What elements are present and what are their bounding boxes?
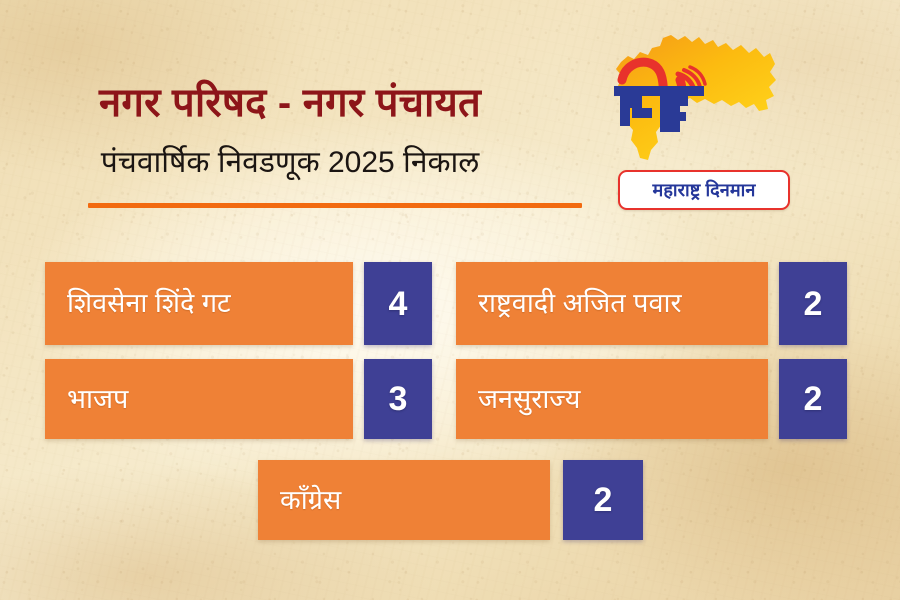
page-title: नगर परिषद - नगर पंचायत [0, 82, 580, 124]
seat-count: 3 [389, 382, 408, 416]
party-name: जनसुराज्य [456, 386, 580, 413]
seat-count-box: 3 [364, 359, 432, 439]
results-list: शिवसेना शिंदे गट 4 भाजप 3 राष्ट्रवादी अज… [0, 248, 900, 558]
result-row: राष्ट्रवादी अजित पवार 2 [456, 262, 847, 345]
party-name: भाजप [45, 386, 128, 413]
brand-name-box: महाराष्ट्र दिनमान [618, 170, 790, 210]
seat-count: 2 [804, 382, 823, 416]
seat-count: 2 [804, 287, 823, 321]
di-letter-mark-icon [608, 46, 718, 138]
heading-divider [88, 203, 582, 208]
brand-logo: महाराष्ट्र दिनमान [598, 18, 888, 218]
seat-count: 4 [389, 287, 408, 321]
seat-count: 2 [594, 483, 613, 517]
seat-count-box: 2 [563, 460, 643, 540]
seat-count-box: 4 [364, 262, 432, 345]
party-bar: काँग्रेस [258, 460, 550, 540]
party-bar: राष्ट्रवादी अजित पवार [456, 262, 768, 345]
result-row: काँग्रेस 2 [258, 460, 643, 540]
party-name: राष्ट्रवादी अजित पवार [456, 290, 682, 317]
result-row: शिवसेना शिंदे गट 4 [45, 262, 432, 345]
seat-count-box: 2 [779, 359, 847, 439]
result-row: भाजप 3 [45, 359, 432, 439]
seat-count-box: 2 [779, 262, 847, 345]
party-bar: शिवसेना शिंदे गट [45, 262, 353, 345]
party-bar: भाजप [45, 359, 353, 439]
party-bar: जनसुराज्य [456, 359, 768, 439]
result-row: जनसुराज्य 2 [456, 359, 847, 439]
page-subtitle: पंचवार्षिक निवडणूक 2025 निकाल [0, 146, 580, 179]
party-name: शिवसेना शिंदे गट [45, 290, 231, 317]
brand-name-label: महाराष्ट्र दिनमान [652, 181, 755, 199]
party-name: काँग्रेस [258, 487, 341, 514]
poster-canvas: नगर परिषद - नगर पंचायत पंचवार्षिक निवडणू… [0, 0, 900, 600]
